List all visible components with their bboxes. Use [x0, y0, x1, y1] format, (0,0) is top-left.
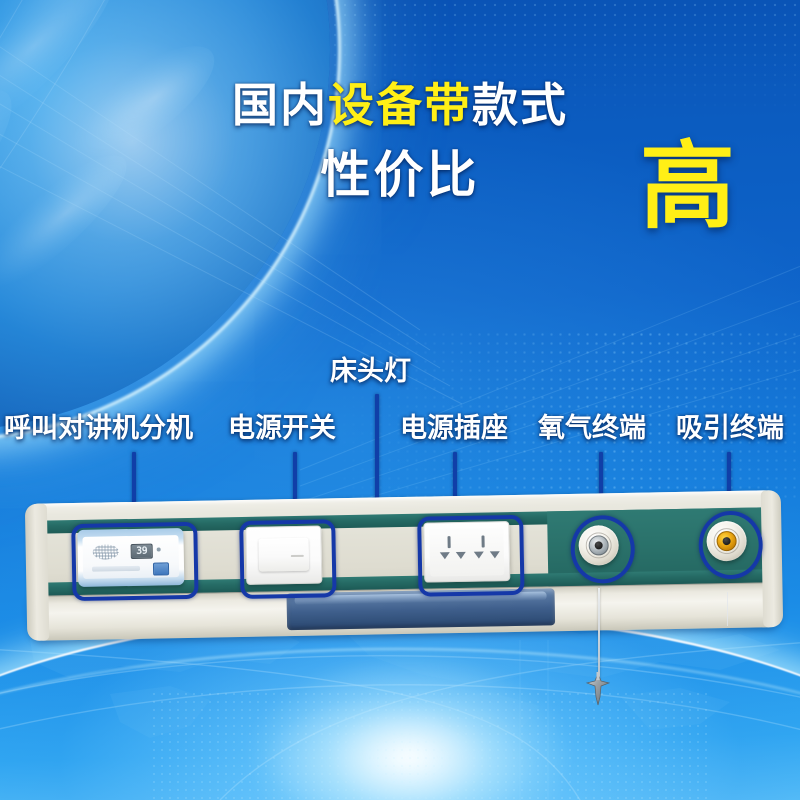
- callout-oxygen-terminal: 氧气终端: [538, 415, 646, 442]
- callout-bed-lamp: 床头灯: [330, 358, 411, 385]
- highlight-box-intercom: [71, 522, 198, 601]
- callout-label: 吸引终端: [676, 413, 784, 443]
- rail-end-cap-left: [25, 504, 50, 641]
- highlight-box-power-socket: [417, 515, 524, 597]
- callout-nurse-call-intercom: 呼叫对讲机分机: [4, 415, 193, 442]
- medical-bed-head-unit: 39: [27, 490, 781, 639]
- callout-label: 氧气终端: [538, 413, 646, 443]
- suction-probe-cord: [727, 592, 728, 626]
- halftone-dots-bottom: [150, 690, 710, 800]
- callout-label: 电源开关: [228, 413, 336, 443]
- halftone-dots-top: [330, 0, 800, 120]
- probe-icon: [580, 672, 616, 706]
- callout-label: 呼叫对讲机分机: [4, 413, 193, 443]
- rail-end-cap-right: [761, 490, 784, 627]
- oxygen-probe-connector: [580, 672, 616, 706]
- callout-label: 电源插座: [400, 413, 508, 443]
- oxygen-probe-cord: [598, 588, 600, 680]
- callout-power-switch: 电源开关: [228, 415, 336, 442]
- highlight-box-power-switch: [239, 519, 336, 599]
- callout-power-socket: 电源插座: [400, 415, 508, 442]
- poster-canvas: 国内设备带款式 性价比 高 呼叫对讲机分机 电源开关 床头灯 电源插座 氧气终端…: [0, 0, 800, 800]
- callout-label: 床头灯: [330, 356, 411, 386]
- callout-suction-terminal: 吸引终端: [676, 415, 784, 442]
- headline-emphasis: 高: [640, 140, 735, 235]
